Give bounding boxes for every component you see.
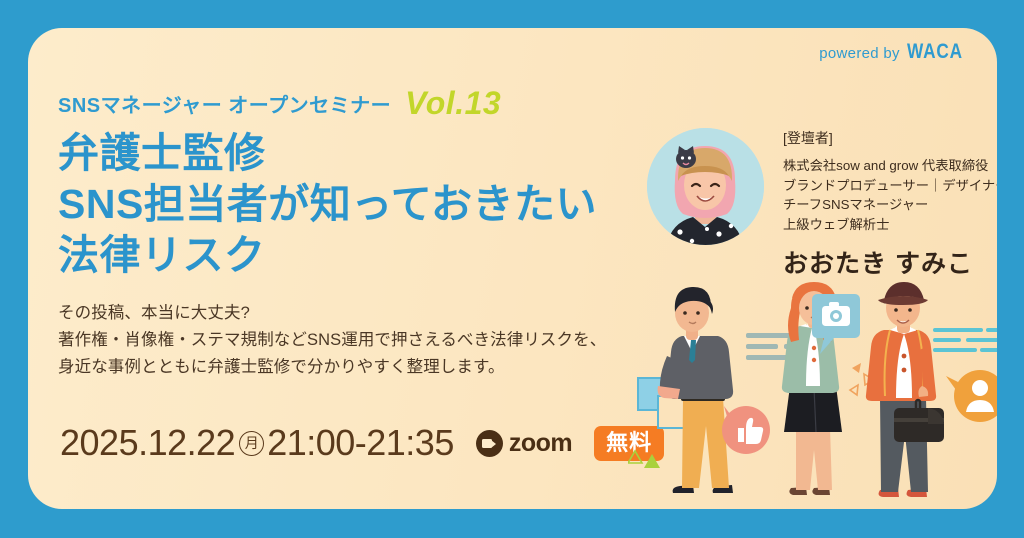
zoom-logo: zoom	[476, 429, 572, 458]
speaker-info: [登壇者] 株式会社sow and grow 代表取締役 ブランドプロデューサー…	[783, 128, 997, 280]
figure-man-hat-briefcase	[866, 282, 944, 497]
user-avatar-bubble	[946, 370, 997, 422]
speaker-name: おおたき すみこ	[783, 244, 997, 280]
speaker-titles: 株式会社sow and grow 代表取締役 ブランドプロデューサー｜デザイナー…	[783, 156, 997, 235]
text-lines-right	[933, 328, 997, 352]
page-title: 弁護士監修 SNS担当者が知っておきたい 法律リスク	[58, 128, 628, 280]
powered-by-waca: powered by WACA	[819, 40, 975, 64]
eyebrow-row: SNSマネージャー オープンセミナー Vol.13	[58, 84, 628, 122]
avatar	[647, 128, 764, 245]
video-camera-icon	[476, 430, 503, 457]
thumbs-up-bubble	[722, 406, 770, 454]
event-date: 2025.12.22	[60, 422, 235, 464]
schedule-row: 2025.12.22 月 21:00-21:35 zoom 無料	[60, 422, 664, 464]
lead-description: その投稿、本当に大丈夫? 著作権・肖像権・ステマ規制などSNS運用で押さえるべき…	[58, 300, 628, 380]
people-illustration	[628, 278, 997, 508]
speaker-role-label: [登壇者]	[783, 128, 997, 148]
event-time: 21:00-21:35	[267, 422, 454, 464]
event-weekday: 月	[239, 431, 264, 456]
seminar-series-label: SNSマネージャー オープンセミナー	[58, 89, 391, 118]
seminar-card: powered by WACA SNSマネージャー オープンセミナー Vol.1…	[28, 28, 997, 509]
powered-by-label: powered by	[819, 45, 900, 62]
figure-man-sweater	[658, 287, 734, 493]
hero-text-block: SNSマネージャー オープンセミナー Vol.13 弁護士監修 SNS担当者が知…	[58, 84, 628, 381]
waca-logo: WACA	[907, 40, 963, 64]
zoom-wordmark: zoom	[509, 429, 572, 458]
volume-number: Vol.13	[405, 85, 501, 122]
